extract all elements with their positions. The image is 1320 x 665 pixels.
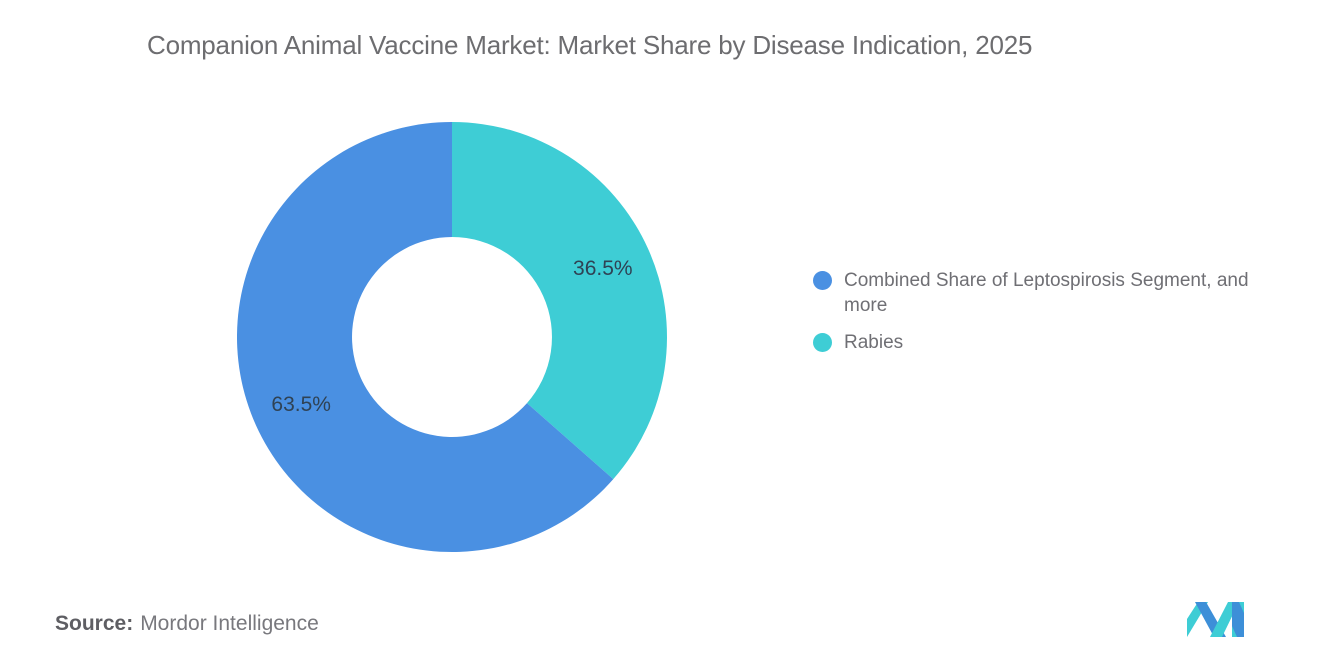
legend-item-combined-share[interactable]: Combined Share of Leptospirosis Segment,… — [813, 268, 1293, 318]
pie-slice-rabies[interactable] — [452, 122, 667, 479]
donut-chart: 36.5% 63.5% — [237, 122, 667, 552]
chart-canvas: Companion Animal Vaccine Market: Market … — [0, 0, 1320, 665]
legend-swatch-icon-rabies — [813, 333, 832, 352]
donut-chart-svg — [237, 122, 667, 552]
page-title: Companion Animal Vaccine Market: Market … — [147, 30, 1267, 61]
legend-label-rabies: Rabies — [844, 330, 903, 355]
pie-slice-label-combined-share: 63.5% — [271, 393, 331, 417]
source-line: Source:Mordor Intelligence — [55, 612, 319, 636]
legend-item-rabies[interactable]: Rabies — [813, 330, 1293, 355]
legend-label-combined-share: Combined Share of Leptospirosis Segment,… — [844, 268, 1284, 318]
source-value: Mordor Intelligence — [140, 612, 319, 635]
pie-slice-label-rabies: 36.5% — [573, 257, 633, 281]
legend-swatch-icon-combined-share — [813, 271, 832, 290]
chart-legend: Combined Share of Leptospirosis Segment,… — [813, 268, 1293, 367]
mordor-intelligence-logo-icon — [1186, 599, 1250, 639]
source-label: Source: — [55, 612, 133, 635]
